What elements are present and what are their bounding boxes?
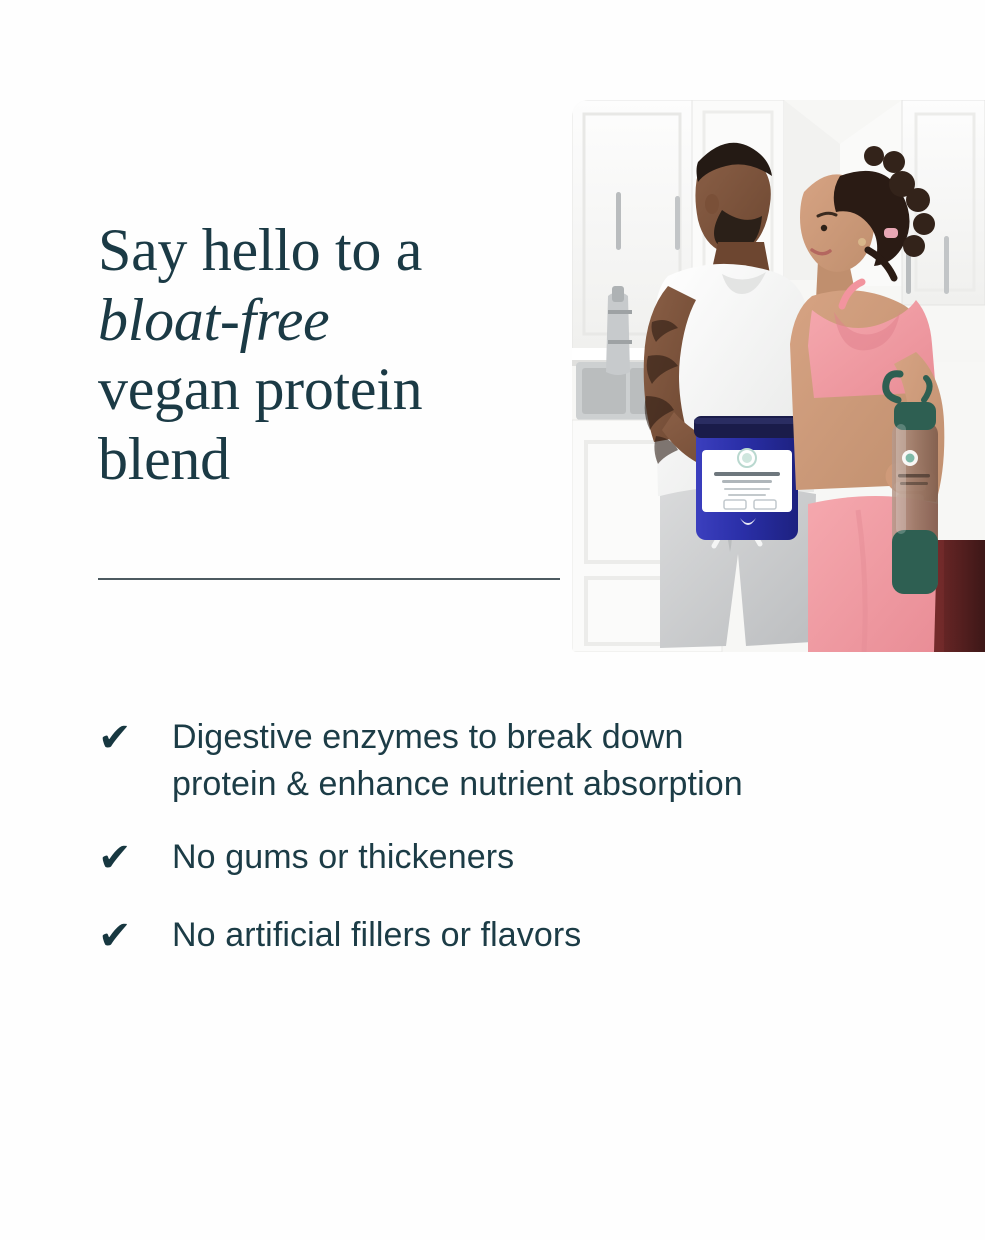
headline-emphasis: bloat-free bbox=[98, 286, 548, 356]
benefit-item-3: ✔ No artificial fillers or flavors bbox=[98, 912, 818, 964]
hero-lifestyle-photo bbox=[572, 100, 985, 652]
benefit-label-2: No gums or thickeners bbox=[172, 834, 818, 881]
section-divider bbox=[98, 578, 560, 580]
checkmark-icon: ✔ bbox=[98, 910, 172, 962]
benefit-label-3: No artificial fillers or flavors bbox=[172, 912, 818, 959]
checkmark-icon: ✔ bbox=[98, 712, 172, 764]
benefit-item-1: ✔ Digestive enzymes to break down protei… bbox=[98, 714, 818, 808]
headline-line-4: blend bbox=[98, 425, 548, 495]
benefits-list: ✔ Digestive enzymes to break down protei… bbox=[98, 714, 818, 964]
hero-photo-illustration bbox=[572, 100, 985, 652]
checkmark-icon: ✔ bbox=[98, 832, 172, 884]
headline-line-1: Say hello to a bbox=[98, 216, 548, 286]
marketing-page: Say hello to a bloat-free vegan protein … bbox=[0, 0, 985, 1240]
protein-container bbox=[694, 416, 800, 540]
headline-line-3: vegan protein bbox=[98, 355, 548, 425]
benefit-item-2: ✔ No gums or thickeners bbox=[98, 834, 818, 886]
benefit-label-1: Digestive enzymes to break down protein … bbox=[172, 714, 772, 808]
page-headline: Say hello to a bloat-free vegan protein … bbox=[98, 216, 548, 494]
